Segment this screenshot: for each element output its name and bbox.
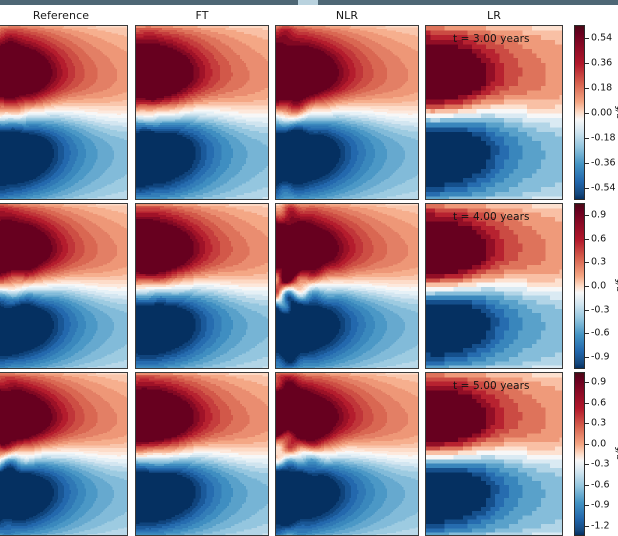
time-label-row2: t = 4.00 years bbox=[453, 211, 530, 223]
colorbar-tick-label-row2-5: -0.6 bbox=[591, 328, 610, 339]
colorbar-tick-row2-6 bbox=[585, 357, 589, 358]
colorbar-tick-label-row1-1: 0.36 bbox=[591, 57, 612, 68]
colorbar-tick-row1-0 bbox=[585, 38, 589, 39]
colorbar-tick-row2-0 bbox=[585, 215, 589, 216]
colorbar-tick-row3-6 bbox=[585, 505, 589, 506]
colorbar-tick-row1-3 bbox=[585, 113, 589, 114]
colorbar-tick-row2-4 bbox=[585, 310, 589, 311]
colorbar-tick-label-row2-4: -0.3 bbox=[591, 304, 610, 315]
colorbar-tick-row1-4 bbox=[585, 138, 589, 139]
time-label-row1: t = 3.00 years bbox=[453, 33, 530, 45]
colorbar-tick-label-row2-1: 0.6 bbox=[591, 233, 606, 244]
colorbar-tick-row3-0 bbox=[585, 382, 589, 383]
colorbar-tick-label-row3-7: -1.2 bbox=[591, 520, 610, 531]
colorbar-gradient-row2 bbox=[574, 203, 585, 369]
colorbar-tick-row1-2 bbox=[585, 88, 589, 89]
colorbar-tick-row1-1 bbox=[585, 63, 589, 64]
panel-reference-row1 bbox=[0, 25, 128, 200]
colorbar-tick-label-row1-4: -0.18 bbox=[591, 132, 616, 143]
colorbar-tick-row2-1 bbox=[585, 239, 589, 240]
panel-lr-row2 bbox=[425, 203, 563, 369]
colorbar-tick-label-row3-0: 0.9 bbox=[591, 377, 606, 388]
colorbar-tick-row1-6 bbox=[585, 188, 589, 189]
column-title-ft: FT bbox=[135, 9, 269, 22]
colorbar-tick-row3-3 bbox=[585, 444, 589, 445]
colorbar-row2: 0.90.60.30.0-0.3-0.6-0.9q/f₀ bbox=[574, 203, 618, 369]
colorbar-tick-label-row3-6: -0.9 bbox=[591, 500, 610, 511]
colorbar-tick-row3-4 bbox=[585, 464, 589, 465]
panel-ft-row3 bbox=[135, 372, 269, 536]
colorbar-gradient-row3 bbox=[574, 372, 585, 536]
colorbar-tick-label-row3-5: -0.6 bbox=[591, 479, 610, 490]
colorbar-tick-label-row3-4: -0.3 bbox=[591, 459, 610, 470]
column-title-reference: Reference bbox=[0, 9, 128, 22]
panel-reference-row3 bbox=[0, 372, 128, 536]
colorbar-tick-row3-5 bbox=[585, 485, 589, 486]
colorbar-tick-row2-2 bbox=[585, 262, 589, 263]
time-label-row3: t = 5.00 years bbox=[453, 380, 530, 392]
colorbar-tick-label-row1-0: 0.54 bbox=[591, 32, 612, 43]
colorbar-tick-label-row2-0: 0.9 bbox=[591, 209, 606, 220]
panel-lr-row1 bbox=[425, 25, 563, 200]
colorbar-row3: 0.90.60.30.0-0.3-0.6-0.9-1.2q/f₀ bbox=[574, 372, 618, 536]
panel-nlr-row2 bbox=[275, 203, 419, 369]
panel-nlr-row3 bbox=[275, 372, 419, 536]
colorbar-tick-row3-2 bbox=[585, 423, 589, 424]
colorbar-tick-label-row1-3: 0.00 bbox=[591, 107, 612, 118]
panel-nlr-row1 bbox=[275, 25, 419, 200]
colorbar-tick-label-row2-3: 0.0 bbox=[591, 281, 606, 292]
colorbar-tick-label-row1-6: -0.54 bbox=[591, 182, 616, 193]
panel-ft-row2 bbox=[135, 203, 269, 369]
colorbar-tick-row2-5 bbox=[585, 333, 589, 334]
colorbar-tick-label-row3-3: 0.0 bbox=[591, 438, 606, 449]
colorbar-gradient-row1 bbox=[574, 25, 585, 200]
column-title-lr: LR bbox=[425, 9, 563, 22]
colorbar-tick-row3-1 bbox=[585, 403, 589, 404]
colorbar-tick-row1-5 bbox=[585, 163, 589, 164]
colorbar-tick-label-row1-5: -0.36 bbox=[591, 157, 616, 168]
panel-lr-row3 bbox=[425, 372, 563, 536]
colorbar-tick-label-row1-2: 0.18 bbox=[591, 82, 612, 93]
figure-canvas: ReferenceFTNLRLR 0.540.360.180.00-0.18-0… bbox=[0, 5, 618, 536]
panel-reference-row2 bbox=[0, 203, 128, 369]
colorbar-tick-label-row2-2: 0.3 bbox=[591, 257, 606, 268]
colorbar-tick-label-row3-2: 0.3 bbox=[591, 418, 606, 429]
colorbar-tick-label-row3-1: 0.6 bbox=[591, 397, 606, 408]
column-title-nlr: NLR bbox=[275, 9, 419, 22]
colorbar-tick-row2-3 bbox=[585, 286, 589, 287]
colorbar-tick-label-row2-6: -0.9 bbox=[591, 352, 610, 363]
colorbar-tick-row3-7 bbox=[585, 526, 589, 527]
panel-ft-row1 bbox=[135, 25, 269, 200]
colorbar-row1: 0.540.360.180.00-0.18-0.36-0.54q/f₀ bbox=[574, 25, 618, 200]
